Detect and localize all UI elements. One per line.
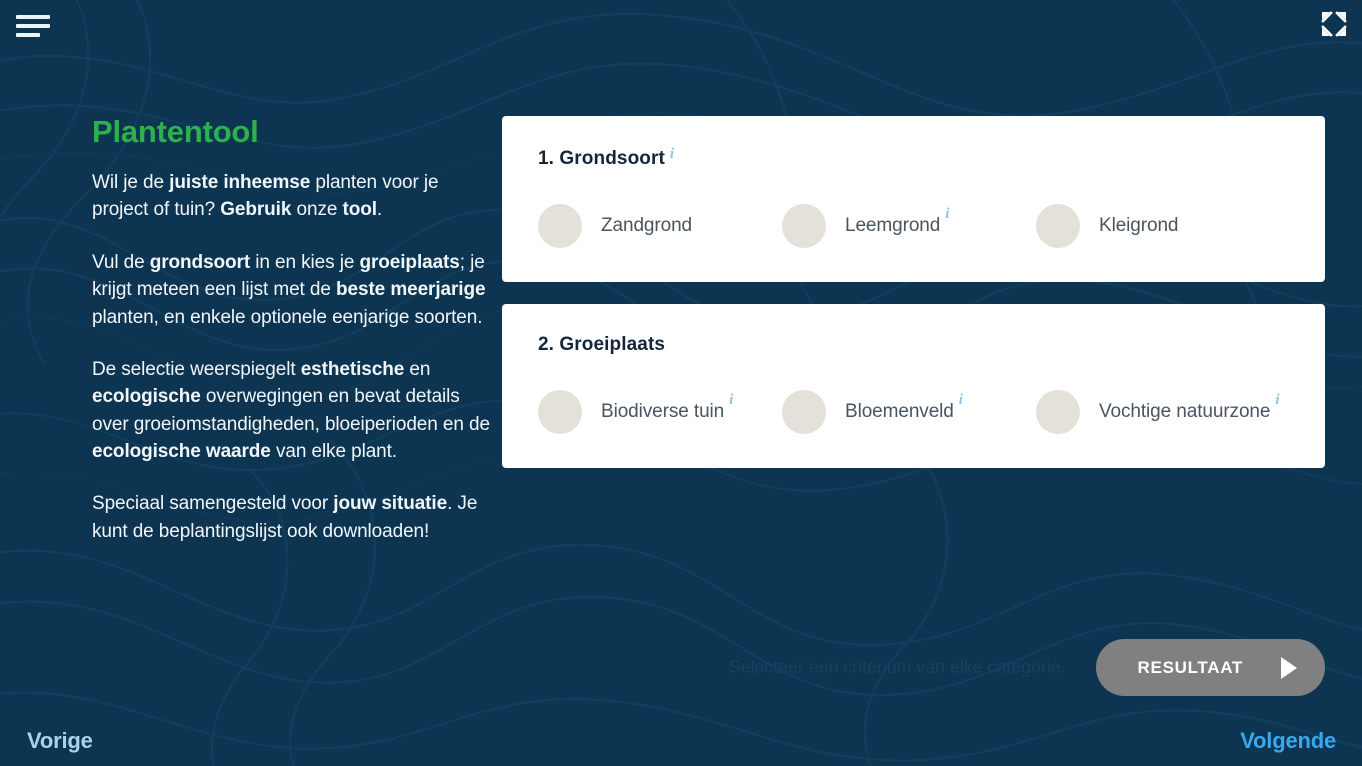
- nav-next-link[interactable]: Volgende: [1240, 728, 1336, 754]
- question-title: 1. Grondsoort: [538, 148, 665, 170]
- intro-emphasis: ecologische waarde: [92, 441, 271, 462]
- intro-paragraphs: Wil je de juiste inheemse planten voor j…: [92, 169, 492, 545]
- option-radio-circle[interactable]: [538, 204, 582, 248]
- menu-line-2: [16, 24, 50, 28]
- fullscreen-expand-icon[interactable]: [1318, 8, 1350, 40]
- option-radio-circle[interactable]: [1036, 390, 1080, 434]
- result-button-label: RESULTAAT: [1138, 658, 1243, 678]
- intro-text: Vul de: [92, 252, 150, 273]
- intro-emphasis: grondsoort: [150, 252, 250, 273]
- selection-hint-text: Selecteer een criterium van elke categor…: [729, 657, 1066, 678]
- option-kleigrond[interactable]: Kleigrond: [1036, 204, 1178, 248]
- intro-panel: Plantentool Wil je de juiste inheemse pl…: [92, 115, 492, 545]
- option-label: Leemgrond: [845, 215, 940, 237]
- option-radio-circle[interactable]: [782, 390, 826, 434]
- option-vochtige-natuurzone[interactable]: Vochtige natuurzonei: [1036, 390, 1280, 434]
- options-row: Biodiverse tuiniBloemenveldiVochtige nat…: [538, 390, 1289, 434]
- intro-emphasis: juiste inheemse: [169, 172, 310, 193]
- option-label: Kleigrond: [1099, 215, 1178, 237]
- action-row: Selecteer een criterium van elke categor…: [729, 639, 1325, 696]
- intro-paragraph: Speciaal samengesteld voor jouw situatie…: [92, 490, 492, 545]
- result-button[interactable]: RESULTAAT: [1096, 639, 1325, 696]
- question-title-row: 2. Groeiplaats: [538, 334, 1289, 356]
- intro-paragraph: De selectie weerspiegelt esthetische en …: [92, 356, 492, 465]
- intro-text: van elke plant.: [271, 441, 397, 462]
- info-icon[interactable]: i: [729, 392, 733, 409]
- fullscreen-glyph: [1318, 8, 1350, 40]
- intro-text: Speciaal samengesteld voor: [92, 493, 333, 514]
- option-label: Vochtige natuurzone: [1099, 401, 1270, 423]
- option-radio-circle[interactable]: [1036, 204, 1080, 248]
- question-title: 2. Groeiplaats: [538, 334, 665, 356]
- intro-emphasis: tool: [343, 199, 377, 220]
- option-label: Bloemenveld: [845, 401, 954, 423]
- intro-text: .: [377, 199, 382, 220]
- question-card: 2. GroeiplaatsBiodiverse tuiniBloemenvel…: [502, 304, 1325, 468]
- option-label: Biodiverse tuin: [601, 401, 724, 423]
- question-cards: 1. GrondsoortiZandgrondLeemgrondiKleigro…: [502, 116, 1325, 490]
- hamburger-menu-icon[interactable]: [12, 8, 54, 44]
- option-radio-circle[interactable]: [782, 204, 826, 248]
- option-label: Zandgrond: [601, 215, 692, 237]
- arrow-right-icon: [1281, 657, 1297, 679]
- option-leemgrond[interactable]: Leemgrondi: [782, 204, 1036, 248]
- intro-text: onze: [291, 199, 342, 220]
- info-icon[interactable]: i: [945, 206, 949, 223]
- intro-text: in en kies je: [250, 252, 359, 273]
- option-zandgrond[interactable]: Zandgrond: [538, 204, 782, 248]
- intro-emphasis: esthetische: [301, 359, 404, 380]
- intro-emphasis: jouw situatie: [333, 493, 447, 514]
- page-title: Plantentool: [92, 115, 492, 149]
- intro-emphasis: beste meerjarige: [336, 279, 485, 300]
- intro-text: De selectie weerspiegelt: [92, 359, 301, 380]
- info-icon[interactable]: i: [1275, 392, 1279, 409]
- question-title-row: 1. Grondsoorti: [538, 146, 1289, 170]
- info-icon[interactable]: i: [959, 392, 963, 409]
- intro-text: Wil je de: [92, 172, 169, 193]
- info-icon[interactable]: i: [670, 146, 674, 162]
- intro-paragraph: Vul de grondsoort in en kies je groeipla…: [92, 249, 492, 331]
- intro-emphasis: Gebruik: [220, 199, 291, 220]
- intro-paragraph: Wil je de juiste inheemse planten voor j…: [92, 169, 492, 224]
- menu-line-1: [16, 15, 50, 19]
- intro-text: planten, en enkele optionele eenjarige s…: [92, 307, 482, 328]
- option-bloemenveld[interactable]: Bloemenveldi: [782, 390, 1036, 434]
- menu-line-3: [16, 33, 40, 37]
- option-radio-circle[interactable]: [538, 390, 582, 434]
- intro-emphasis: ecologische: [92, 386, 201, 407]
- question-card: 1. GrondsoortiZandgrondLeemgrondiKleigro…: [502, 116, 1325, 282]
- options-row: ZandgrondLeemgrondiKleigrond: [538, 204, 1289, 248]
- option-biodiverse-tuin[interactable]: Biodiverse tuini: [538, 390, 782, 434]
- intro-text: en: [404, 359, 430, 380]
- intro-emphasis: groeiplaats: [359, 252, 459, 273]
- nav-previous-link[interactable]: Vorige: [27, 728, 93, 754]
